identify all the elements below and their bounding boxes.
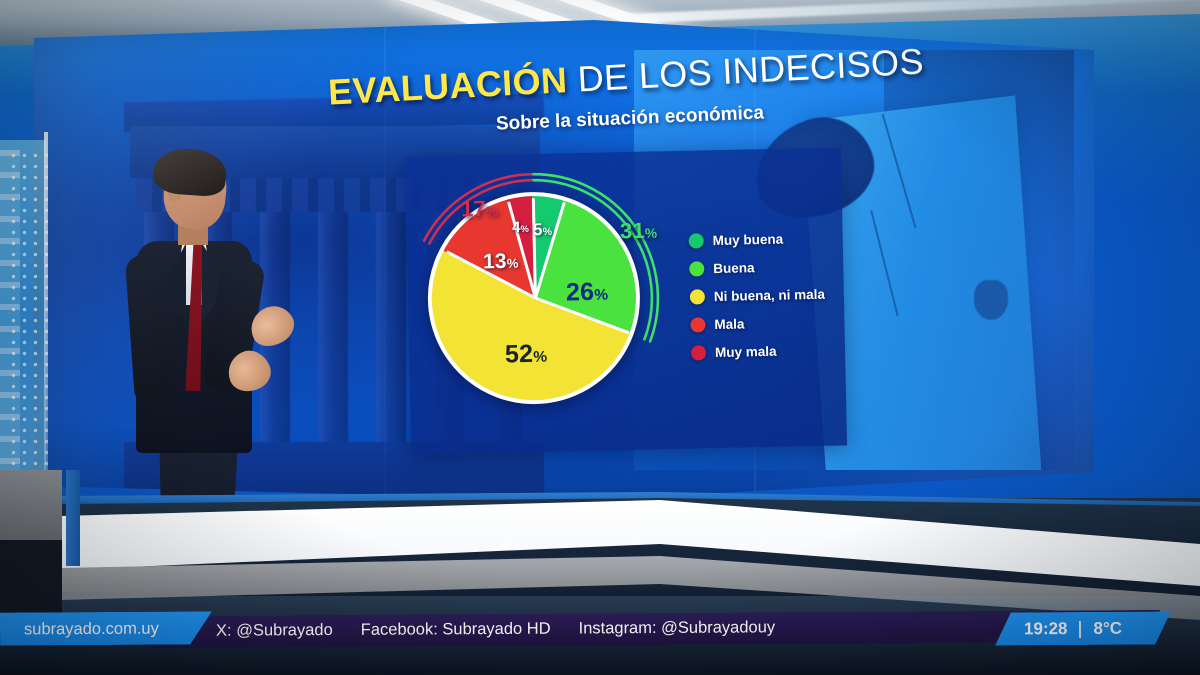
legend-item-2: Ni buena, ni mala — [690, 286, 840, 304]
clock-weather: 19:28 8°C — [1024, 619, 1122, 640]
clock-divider — [1079, 620, 1081, 637]
legend-item-3: Mala — [690, 314, 840, 332]
legend-color-dot — [690, 317, 705, 332]
legend-label: Ni buena, ni mala — [714, 287, 825, 304]
legend-color-dot — [689, 261, 704, 276]
broadcast-screenshot: EVALUACIÓN DE LOS INDECISOS Sobre la sit… — [0, 0, 1200, 675]
ticker-website[interactable]: subrayado.com.uy — [24, 620, 159, 640]
legend-label: Buena — [713, 260, 755, 276]
ticker-handle-1[interactable]: Facebook: Subrayado HD — [361, 620, 551, 640]
lower-third-ticker: subrayado.com.uy X: @SubrayadoFacebook: … — [0, 612, 1200, 646]
legend-item-4: Muy mala — [691, 342, 841, 360]
legend-color-dot — [691, 345, 706, 360]
legend-item-0: Muy buena — [689, 230, 839, 248]
ticker-handle-0[interactable]: X: @Subrayado — [216, 621, 333, 641]
pie-label-muy-buena: 5% — [533, 220, 553, 240]
wall-support-post — [66, 470, 80, 566]
legend-label: Muy mala — [715, 344, 777, 360]
pie-label-mala: 13% — [483, 250, 519, 275]
pie-label-buena: 26% — [566, 278, 609, 308]
presenter-hair — [152, 147, 227, 198]
glass-dot-pattern — [8, 150, 48, 495]
legend-item-1: Buena — [689, 258, 839, 276]
legend-color-dot — [689, 233, 704, 248]
ticker-handle-2[interactable]: Instagram: @Subrayadouy — [579, 618, 776, 638]
group-label-negativa: 17% — [461, 196, 499, 223]
legend-label: Mala — [714, 316, 744, 332]
pie-label-ni-buena-ni-mala: 52% — [505, 340, 548, 370]
clock-time: 19:28 — [1024, 619, 1068, 639]
temperature-value: 8°C — [1093, 619, 1122, 639]
legend-color-dot — [690, 289, 705, 304]
glass-panel-edge — [44, 132, 48, 504]
chart-legend: Muy buenaBuenaNi buena, ni malaMalaMuy m… — [689, 230, 842, 373]
legend-label: Muy buena — [713, 232, 784, 248]
pie-label-muy-mala: 4% — [512, 219, 529, 236]
group-label-positiva: 31% — [620, 218, 658, 245]
ticker-social-handles: X: @SubrayadoFacebook: Subrayado HDInsta… — [216, 618, 775, 640]
